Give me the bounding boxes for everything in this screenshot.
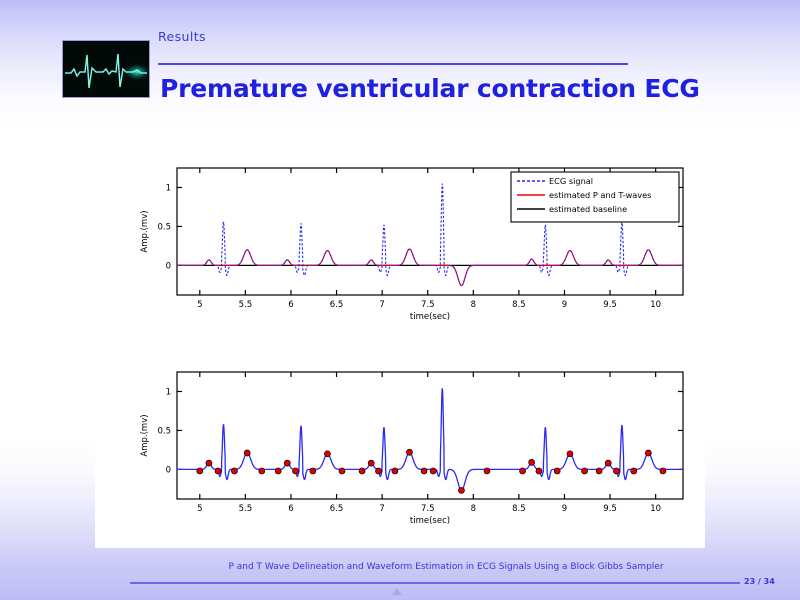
svg-text:10: 10 [650,300,661,310]
svg-text:9: 9 [562,504,567,514]
page-title: Premature ventricular contraction ECG [160,74,700,103]
svg-text:1: 1 [166,183,171,193]
svg-text:0.5: 0.5 [157,222,171,232]
svg-text:7: 7 [379,300,384,310]
svg-text:7.5: 7.5 [421,504,435,514]
svg-text:8.5: 8.5 [512,504,526,514]
svg-text:0: 0 [166,465,171,475]
chart-ecg-estimation: 55.566.577.588.599.51000.51time(sec)Amp.… [95,140,705,344]
svg-text:0: 0 [166,261,171,271]
svg-text:ECG signal: ECG signal [549,176,593,186]
figure-panel: 55.566.577.588.599.51000.51time(sec)Amp.… [95,140,705,548]
presentation-slide: Results Premature ventricular contractio… [0,0,800,600]
page-number: 23 / 34 [744,577,775,586]
svg-text:9: 9 [562,300,567,310]
svg-text:6: 6 [288,504,293,514]
footer-divider [130,582,740,584]
svg-text:8: 8 [471,504,476,514]
section-label: Results [158,29,206,44]
svg-text:6.5: 6.5 [330,300,344,310]
svg-text:time(sec): time(sec) [410,312,450,322]
svg-text:Amp.(mv): Amp.(mv) [140,414,150,456]
svg-text:9.5: 9.5 [603,300,617,310]
svg-text:6.5: 6.5 [330,504,344,514]
svg-text:8.5: 8.5 [512,300,526,310]
svg-text:7.5: 7.5 [421,300,435,310]
svg-text:Amp.(mv): Amp.(mv) [140,210,150,252]
svg-text:estimated baseline: estimated baseline [549,204,627,214]
header-divider [158,63,628,65]
svg-text:5: 5 [197,504,202,514]
svg-text:8: 8 [471,300,476,310]
svg-text:5: 5 [197,300,202,310]
svg-text:estimated P and T-waves: estimated P and T-waves [549,190,651,200]
svg-text:6: 6 [288,300,293,310]
svg-text:5.5: 5.5 [239,504,253,514]
footer-paper-title: P and T Wave Delineation and Waveform Es… [146,562,746,572]
svg-text:9.5: 9.5 [603,504,617,514]
svg-text:1: 1 [166,387,171,397]
navigation-marker-icon[interactable] [392,588,402,595]
svg-text:time(sec): time(sec) [410,516,450,526]
svg-text:5.5: 5.5 [239,300,253,310]
svg-text:10: 10 [650,504,661,514]
svg-text:7: 7 [379,504,384,514]
svg-text:0.5: 0.5 [157,426,171,436]
ecg-waveform-logo-icon [62,40,150,98]
chart-ecg-delineation: 55.566.577.588.599.51000.51time(sec)Amp.… [95,344,705,548]
